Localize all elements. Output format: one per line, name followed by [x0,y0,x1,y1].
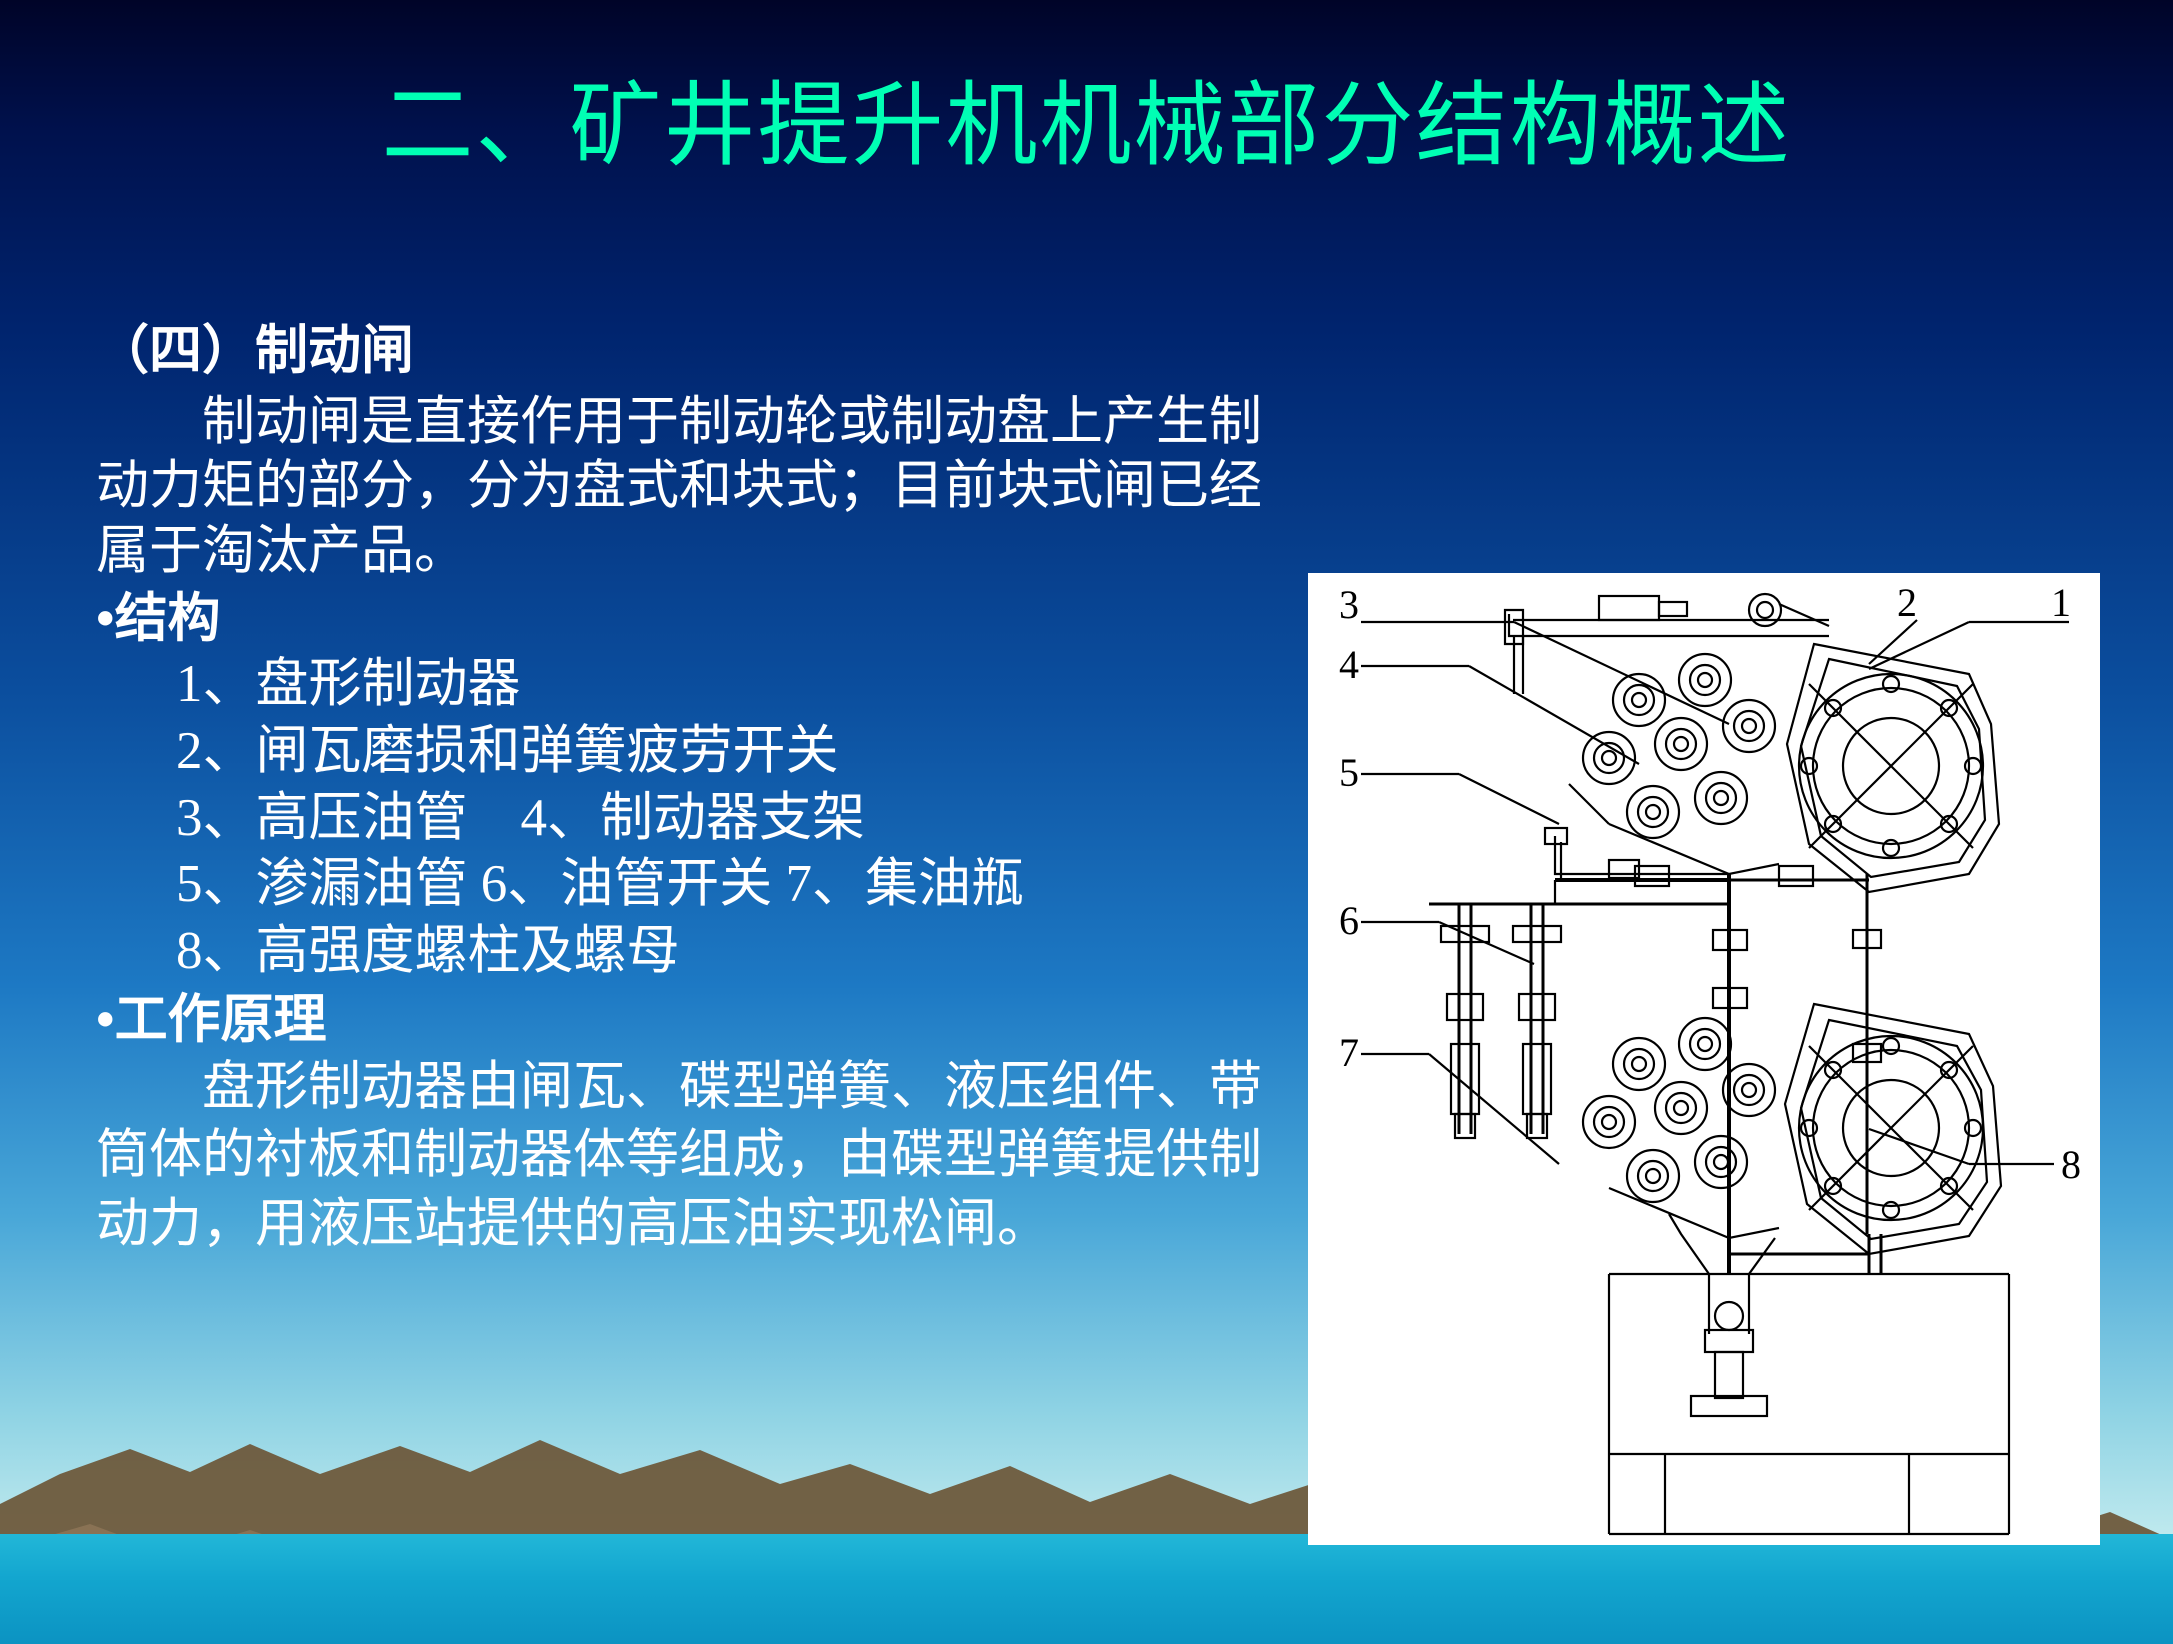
list-item: 5、渗漏油管 6、油管开关 7、集油瓶 [176,851,1276,918]
bullet-icon: • [96,590,115,648]
principle-paragraph: 盘形制动器由闸瓦、碟型弹簧、液压组件、带筒体的衬板和制动器体等组成，由碟型弹簧提… [96,1053,1276,1260]
principle-bullet: •工作原理 [96,989,1276,1053]
body-text: （四）制动闸 制动闸是直接作用于制动轮或制动盘上产生制动力矩的部分，分为盘式和块… [96,320,1276,1259]
slide: 二、矿井提升机机械部分结构概述 （四）制动闸 制动闸是直接作用于制动轮或制动盘上… [0,0,2173,1644]
page-title: 二、矿井提升机机械部分结构概述 [0,78,2173,175]
structure-list: 1、盘形制动器 2、闸瓦磨损和弹簧疲劳开关 3、高压油管 4、制动器支架 5、渗… [96,651,1276,985]
callout-3: 3 [1339,582,1359,627]
section-heading: （四）制动闸 [96,320,1276,384]
structure-bullet: •结构 [96,588,1276,652]
callout-8: 8 [2061,1142,2081,1187]
callout-4: 4 [1339,642,1359,687]
callout-5: 5 [1339,750,1359,795]
callout-1: 1 [2051,580,2071,625]
bullet-icon: • [96,991,115,1049]
list-item: 3、高压油管 4、制动器支架 [176,785,1276,852]
callout-7: 7 [1339,1030,1359,1075]
intro-paragraph: 制动闸是直接作用于制动轮或制动盘上产生制动力矩的部分，分为盘式和块式；目前块式闸… [96,390,1276,584]
sea-band [0,1534,2173,1644]
principle-bullet-label: 工作原理 [115,991,327,1049]
callout-2: 2 [1897,580,1917,625]
list-item: 8、高强度螺柱及螺母 [176,918,1276,985]
structure-bullet-label: 结构 [115,590,221,648]
callout-6: 6 [1339,898,1359,943]
list-item: 2、闸瓦磨损和弹簧疲劳开关 [176,718,1276,785]
list-item: 1、盘形制动器 [176,651,1276,718]
brake-assembly-diagram: 3 4 5 6 7 2 1 8 [1308,573,2100,1545]
